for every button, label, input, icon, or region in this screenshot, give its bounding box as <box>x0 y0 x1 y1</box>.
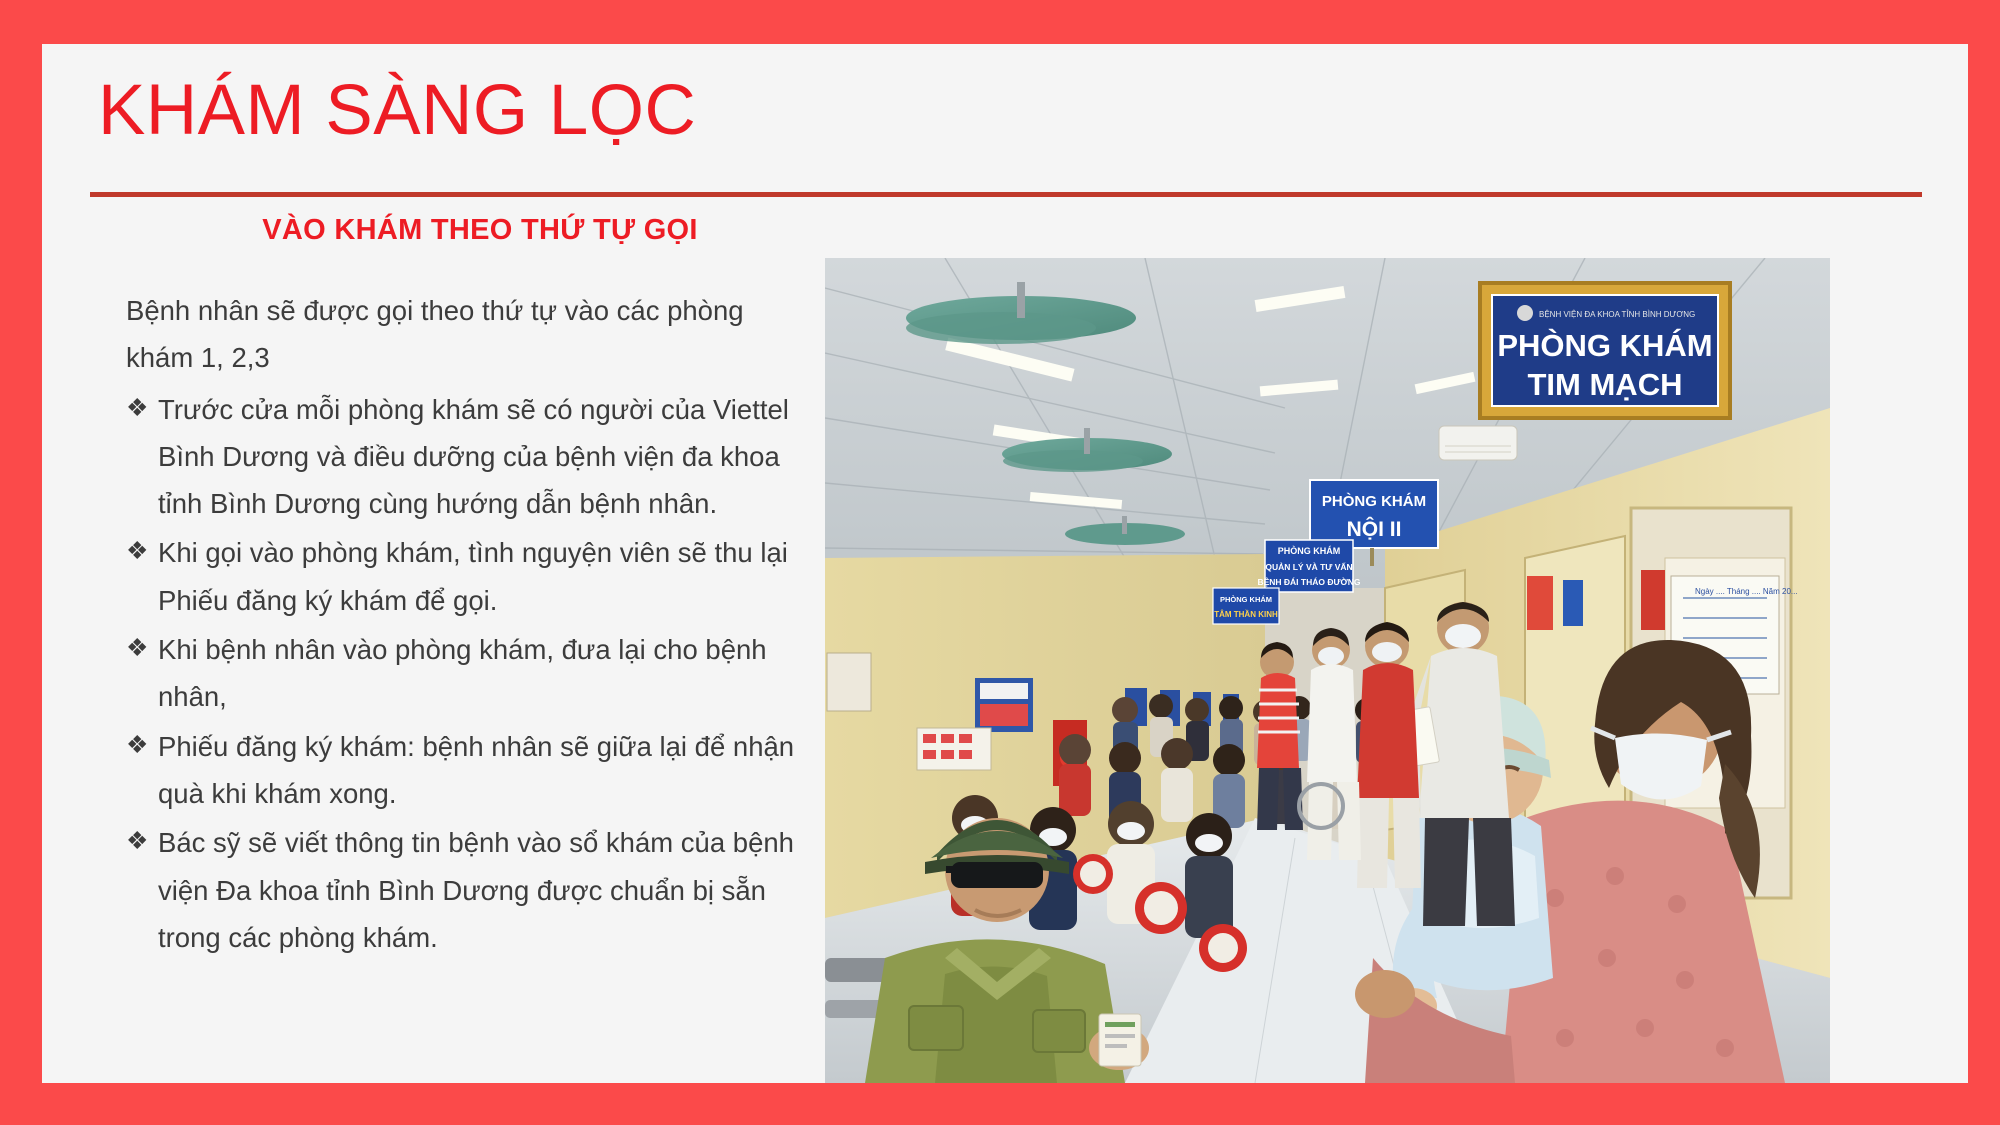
diamond-bullet-icon: ❖ <box>126 386 148 432</box>
list-item: ❖ Trước cửa mỗi phòng khám sẽ có người c… <box>90 386 830 528</box>
hospital-corridor-photo: BỆNH VIỆN ĐA KHOA TỈNH BÌNH DƯƠNG PHÒNG … <box>825 258 1830 1083</box>
svg-text:Ngày .... Tháng .... Năm 20...: Ngày .... Tháng .... Năm 20... <box>1695 587 1798 596</box>
svg-text:BỆNH VIỆN ĐA KHOA TỈNH BÌNH DƯ: BỆNH VIỆN ĐA KHOA TỈNH BÌNH DƯƠNG <box>1539 310 1695 319</box>
svg-text:QUẢN LÝ VÀ TƯ VẤN: QUẢN LÝ VÀ TƯ VẤN <box>1265 561 1352 572</box>
svg-text:NỘI II: NỘI II <box>1347 517 1402 541</box>
svg-text:BỆNH ĐÁI THÁO ĐƯỜNG: BỆNH ĐÁI THÁO ĐƯỜNG <box>1257 576 1360 587</box>
svg-text:PHÒNG KHÁM: PHÒNG KHÁM <box>1497 327 1712 363</box>
list-item: ❖ Khi gọi vào phòng khám, tình nguyện vi… <box>90 529 830 624</box>
diamond-bullet-icon: ❖ <box>126 723 148 769</box>
svg-text:PHÒNG KHÁM: PHÒNG KHÁM <box>1220 595 1272 604</box>
list-item: ❖ Phiếu đăng ký khám: bệnh nhân sẽ giữa … <box>90 723 830 818</box>
sign-quan-ly-tu-van: PHÒNG KHÁM QUẢN LÝ VÀ TƯ VẤN BỆNH ĐÁI TH… <box>1257 540 1360 592</box>
sign-tam-than-kinh: PHÒNG KHÁM TÂM THẦN KINH <box>1213 588 1279 624</box>
list-item-label: Trước cửa mỗi phòng khám sẽ có người của… <box>158 394 789 520</box>
list-item-label: Khi bệnh nhân vào phòng khám, đưa lại ch… <box>158 634 767 712</box>
intro-paragraph: Bệnh nhân sẽ được gọi theo thứ tự vào cá… <box>90 287 830 382</box>
slide-canvas: KHÁM SÀNG LỌC VÀO KHÁM THEO THỨ TỰ GỌI B… <box>42 44 1968 1083</box>
diamond-bullet-icon: ❖ <box>126 529 148 575</box>
instruction-bullet-list: ❖ Trước cửa mỗi phòng khám sẽ có người c… <box>90 386 830 962</box>
page-title: KHÁM SÀNG LỌC <box>98 74 696 149</box>
list-item-label: Khi gọi vào phòng khám, tình nguyện viên… <box>158 537 788 615</box>
title-divider-rule <box>90 192 1922 197</box>
list-item-label: Bác sỹ sẽ viết thông tin bệnh vào sổ khá… <box>158 827 794 953</box>
svg-text:PHÒNG KHÁM: PHÒNG KHÁM <box>1322 492 1426 510</box>
svg-text:TIM MẠCH: TIM MẠCH <box>1528 367 1683 402</box>
svg-text:TÂM THẦN KINH: TÂM THẦN KINH <box>1214 609 1278 619</box>
content-text-column: VÀO KHÁM THEO THỨ TỰ GỌI Bệnh nhân sẽ đư… <box>90 214 830 963</box>
list-item: ❖ Bác sỹ sẽ viết thông tin bệnh vào sổ k… <box>90 819 830 961</box>
sign-tim-mach: BỆNH VIỆN ĐA KHOA TỈNH BÌNH DƯƠNG PHÒNG … <box>1480 283 1730 418</box>
section-subtitle: VÀO KHÁM THEO THỨ TỰ GỌI <box>90 214 830 247</box>
list-item-label: Phiếu đăng ký khám: bệnh nhân sẽ giữa lạ… <box>158 731 794 809</box>
list-item: ❖ Khi bệnh nhân vào phòng khám, đưa lại … <box>90 626 830 721</box>
diamond-bullet-icon: ❖ <box>126 626 148 672</box>
slide-red-border: KHÁM SÀNG LỌC VÀO KHÁM THEO THỨ TỰ GỌI B… <box>0 0 2000 1125</box>
photo-illustration: BỆNH VIỆN ĐA KHOA TỈNH BÌNH DƯƠNG PHÒNG … <box>825 258 1830 1083</box>
diamond-bullet-icon: ❖ <box>126 819 148 865</box>
svg-text:PHÒNG KHÁM: PHÒNG KHÁM <box>1278 545 1341 556</box>
